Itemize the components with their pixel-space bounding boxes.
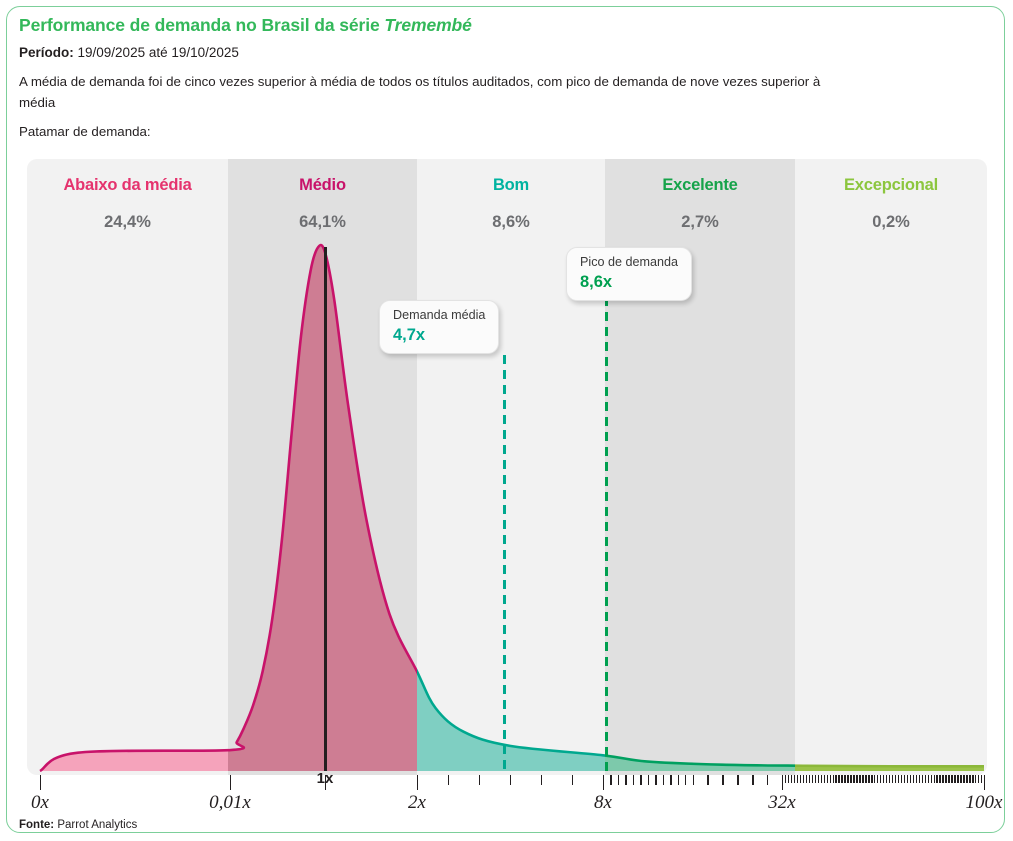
axis-tick-tiny-78 <box>919 775 920 783</box>
axis-tick-tiny-73 <box>904 775 905 783</box>
axis-label-001x: 0,01x <box>209 792 251 814</box>
axis-tick-tiny-93 <box>963 775 964 783</box>
curve-fill-3 <box>40 245 984 771</box>
page-title-series: Tremembé <box>384 15 471 35</box>
axis-tick-tiny-56 <box>853 775 854 783</box>
axis-tick-tiny-53 <box>844 775 845 783</box>
marker-line-1x <box>324 247 327 771</box>
axis-tick-tiny-80 <box>925 775 926 783</box>
axis-tick-tiny-47 <box>827 775 828 783</box>
marker-line-demanda-media <box>503 355 506 771</box>
axis-tick-tiny-55 <box>850 775 851 783</box>
axis-tick-tiny-87 <box>945 775 946 783</box>
tooltip-peak-value: 8,6x <box>580 272 678 293</box>
axis-tick-tiny-35 <box>791 775 792 783</box>
curve-fill-5 <box>40 245 984 771</box>
axis-tick-tiny-36 <box>794 775 795 783</box>
axis-tick-tiny-66 <box>883 775 884 783</box>
axis-tick-tiny-72 <box>901 775 902 783</box>
axis-tick-minor-19 <box>737 775 738 785</box>
axis-tick-tiny-83 <box>934 775 935 783</box>
axis-tick-tiny-49 <box>833 775 834 783</box>
axis-tick-tiny-85 <box>939 775 940 783</box>
axis-tick-tiny-42 <box>812 775 813 783</box>
axis-tick-tiny-64 <box>877 775 878 783</box>
axis-tick-major-5 <box>782 775 783 790</box>
axis-tick-tiny-54 <box>847 775 848 783</box>
distribution-curve <box>27 159 987 775</box>
card-header: Performance de demanda no Brasil da séri… <box>19 15 985 140</box>
axis-tick-tiny-70 <box>895 775 896 783</box>
axis-tick-tiny-90 <box>954 775 955 783</box>
axis-tick-tiny-58 <box>859 775 860 783</box>
axis-tick-minor-14 <box>678 775 679 785</box>
axis-tick-tiny-65 <box>880 775 881 783</box>
axis-tick-minor-16 <box>693 775 694 785</box>
axis-tick-tiny-84 <box>936 775 937 783</box>
axis-tick-tiny-89 <box>951 775 952 783</box>
page-title: Performance de demanda no Brasil da séri… <box>19 15 985 36</box>
report-card: Performance de demanda no Brasil da séri… <box>6 6 1005 833</box>
axis-tick-tiny-74 <box>907 775 908 783</box>
tooltip-peak-label: Pico de demanda <box>580 255 678 271</box>
axis-tick-major-0 <box>40 775 41 790</box>
axis-tick-minor-20 <box>752 775 753 785</box>
axis-tick-tiny-94 <box>966 775 967 783</box>
axis-tick-tiny-92 <box>960 775 961 783</box>
curve-stroke-1 <box>40 245 984 771</box>
tooltip-pico-demanda[interactable]: Pico de demanda 8,6x <box>566 247 692 301</box>
axis-tick-tiny-97 <box>975 775 976 783</box>
axis-tick-tiny-63 <box>874 775 875 783</box>
axis-tick-tiny-45 <box>821 775 822 783</box>
axis-label-2x: 2x <box>408 792 426 814</box>
axis-tick-major-3 <box>417 775 418 790</box>
axis-tick-tiny-61 <box>868 775 869 783</box>
curve-stroke-2 <box>40 245 984 771</box>
axis-tick-tiny-81 <box>928 775 929 783</box>
axis-tick-tiny-60 <box>865 775 866 783</box>
patamar-label: Patamar de demanda: <box>19 124 985 140</box>
description-text: A média de demanda foi de cinco vezes su… <box>19 72 849 113</box>
tooltip-mean-value: 4,7x <box>393 325 485 346</box>
axis-tick-tiny-76 <box>913 775 914 783</box>
curve-fill-1 <box>40 245 984 771</box>
period-value: 19/09/2025 até 19/10/2025 <box>74 45 239 60</box>
axis-tick-minor-12 <box>663 775 664 785</box>
period-line: Período: 19/09/2025 até 19/10/2025 <box>19 45 985 61</box>
axis-tick-tiny-44 <box>818 775 819 783</box>
axis-tick-major-1 <box>230 775 231 790</box>
axis-tick-tiny-79 <box>922 775 923 783</box>
axis-tick-minor-4 <box>572 775 573 785</box>
axis-tick-tiny-33 <box>785 775 786 783</box>
axis-label-0x: 0x <box>31 792 49 814</box>
axis-tick-tiny-98 <box>978 775 979 783</box>
axis-tick-tiny-67 <box>886 775 887 783</box>
axis-tick-tiny-59 <box>862 775 863 783</box>
tooltip-mean-label: Demanda média <box>393 308 485 324</box>
curve-fill-4 <box>40 245 984 771</box>
axis-tick-minor-9 <box>640 775 641 785</box>
axis-tick-tiny-48 <box>830 775 831 783</box>
axis-tick-minor-7 <box>625 775 626 785</box>
axis-tick-minor-21 <box>767 775 768 785</box>
axis-tick-tiny-57 <box>856 775 857 783</box>
axis-tick-tiny-68 <box>889 775 890 783</box>
source-label: Fonte: <box>19 819 54 831</box>
axis-tick-tiny-46 <box>824 775 825 783</box>
axis-tick-tiny-37 <box>797 775 798 783</box>
axis-tick-minor-6 <box>618 775 619 785</box>
axis-label-1x: 1x <box>317 770 334 787</box>
axis-tick-minor-3 <box>541 775 542 785</box>
axis-tick-minor-18 <box>722 775 723 785</box>
axis-tick-tiny-39 <box>803 775 804 783</box>
axis-tick-tiny-91 <box>957 775 958 783</box>
axis-tick-tiny-34 <box>788 775 789 783</box>
axis-tick-major-4 <box>603 775 604 790</box>
curve-stroke-3 <box>40 245 984 771</box>
tooltip-demanda-media[interactable]: Demanda média 4,7x <box>379 300 499 354</box>
curve-stroke-5 <box>40 245 984 771</box>
axis-tick-minor-5 <box>610 775 611 785</box>
axis-tick-tiny-69 <box>892 775 893 783</box>
axis-tick-tiny-50 <box>835 775 836 783</box>
curve-fill-2 <box>40 245 984 771</box>
axis-tick-tiny-100 <box>984 775 985 783</box>
axis-tick-tiny-99 <box>981 775 982 783</box>
axis-tick-minor-10 <box>648 775 649 785</box>
demand-distribution-chart: Abaixo da média24,4%Médio64,1%Bom8,6%Exc… <box>27 159 987 775</box>
axis-tick-tiny-40 <box>806 775 807 783</box>
period-label: Período: <box>19 45 74 60</box>
axis-tick-tiny-38 <box>800 775 801 783</box>
axis-tick-tiny-88 <box>948 775 949 783</box>
x-axis: 0x0,01x1x2x8x32x100x <box>27 775 987 821</box>
axis-tick-tiny-51 <box>838 775 839 783</box>
axis-label-100x: 100x <box>966 792 1003 814</box>
marker-line-pico-demanda <box>605 297 608 771</box>
axis-tick-tiny-82 <box>931 775 932 783</box>
source-note: Fonte: Parrot Analytics <box>19 819 137 833</box>
axis-label-32x: 32x <box>768 792 795 814</box>
axis-tick-minor-2 <box>510 775 511 785</box>
axis-tick-tiny-52 <box>841 775 842 783</box>
axis-tick-minor-1 <box>479 775 480 785</box>
axis-label-8x: 8x <box>594 792 612 814</box>
axis-tick-tiny-41 <box>809 775 810 783</box>
axis-tick-minor-15 <box>685 775 686 785</box>
axis-tick-minor-0 <box>448 775 449 785</box>
axis-tick-tiny-62 <box>871 775 872 783</box>
axis-tick-tiny-43 <box>815 775 816 783</box>
axis-tick-tiny-86 <box>942 775 943 783</box>
axis-tick-minor-13 <box>670 775 671 785</box>
axis-tick-tiny-95 <box>969 775 970 783</box>
axis-tick-tiny-77 <box>916 775 917 783</box>
page-title-main: Performance de demanda no Brasil da séri… <box>19 15 384 35</box>
axis-tick-tiny-71 <box>898 775 899 783</box>
axis-tick-tiny-75 <box>910 775 911 783</box>
curve-stroke-4 <box>40 245 984 771</box>
source-value: Parrot Analytics <box>54 819 137 831</box>
axis-tick-minor-11 <box>655 775 656 785</box>
axis-tick-tiny-96 <box>972 775 973 783</box>
axis-tick-minor-17 <box>707 775 708 785</box>
axis-tick-minor-8 <box>633 775 634 785</box>
